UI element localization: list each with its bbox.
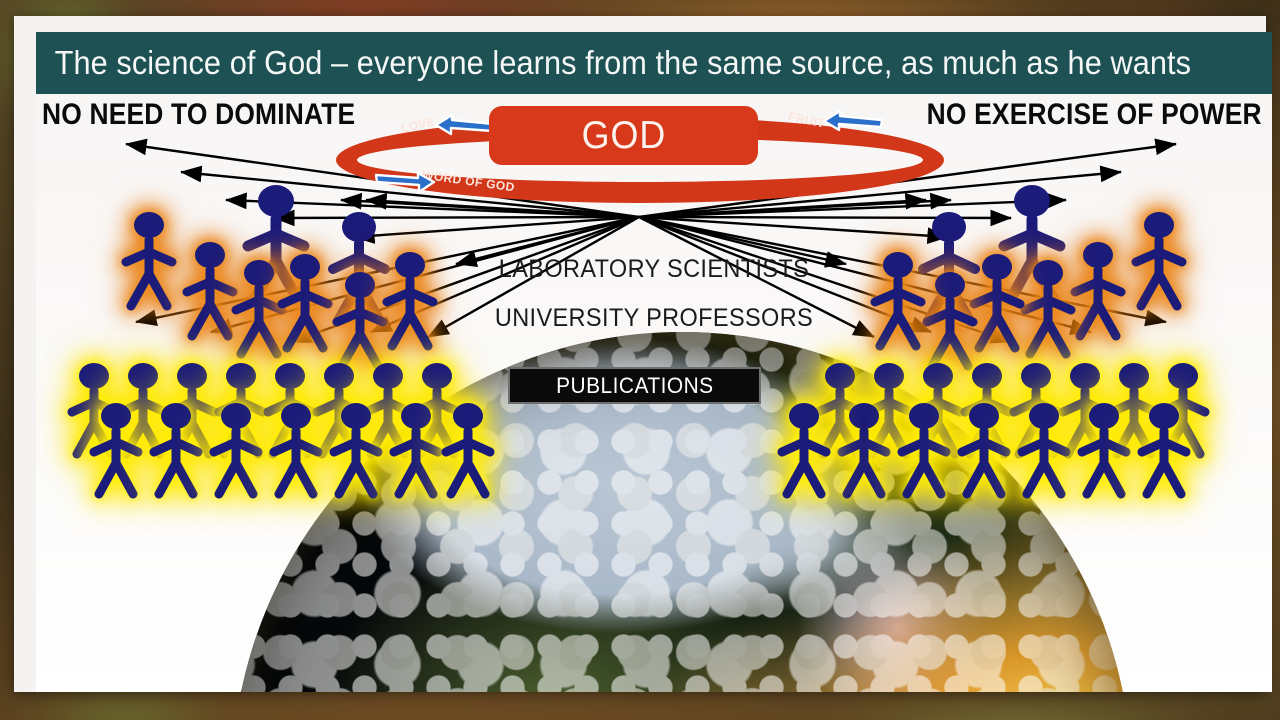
title-bar: The science of God – everyone learns fro… bbox=[36, 32, 1272, 94]
person-figure bbox=[1076, 400, 1132, 500]
person-figure bbox=[328, 400, 384, 500]
person-figure bbox=[440, 400, 496, 500]
person-figure bbox=[956, 400, 1012, 500]
person-figure bbox=[1016, 400, 1072, 500]
person-figure bbox=[148, 400, 204, 500]
god-label: GOD bbox=[581, 114, 665, 158]
university-professors-label: UNIVERSITY PROFESSORS bbox=[73, 304, 1235, 333]
heading-no-need-to-dominate: NO NEED TO DOMINATE bbox=[42, 98, 355, 132]
slide-stage: LABORATORY SCIENTISTS UNIVERSITY PROFESS… bbox=[0, 0, 1280, 720]
publications-label: PUBLICATIONS bbox=[556, 373, 713, 399]
page-title: The science of God – everyone learns fro… bbox=[36, 44, 1191, 82]
slide-canvas: LABORATORY SCIENTISTS UNIVERSITY PROFESS… bbox=[36, 32, 1272, 692]
publications-box: PUBLICATIONS bbox=[508, 367, 761, 404]
person-figure bbox=[388, 400, 444, 500]
laboratory-scientists-label: LABORATORY SCIENTISTS bbox=[73, 255, 1235, 284]
person-figure bbox=[1136, 400, 1192, 500]
person-figure bbox=[896, 400, 952, 500]
person-figure bbox=[776, 400, 832, 500]
love-left-arrow-icon bbox=[434, 114, 496, 136]
person-figure bbox=[208, 400, 264, 500]
slide-frame: LABORATORY SCIENTISTS UNIVERSITY PROFESS… bbox=[14, 16, 1266, 692]
god-box: GOD bbox=[489, 106, 758, 165]
fruit-left-arrow-icon bbox=[822, 110, 884, 132]
person-figure bbox=[88, 400, 144, 500]
person-figure bbox=[268, 400, 324, 500]
person-figure bbox=[836, 400, 892, 500]
heading-no-exercise-of-power: NO EXERCISE OF POWER bbox=[927, 98, 1262, 132]
word-of-god-right-arrow-icon bbox=[374, 172, 436, 194]
